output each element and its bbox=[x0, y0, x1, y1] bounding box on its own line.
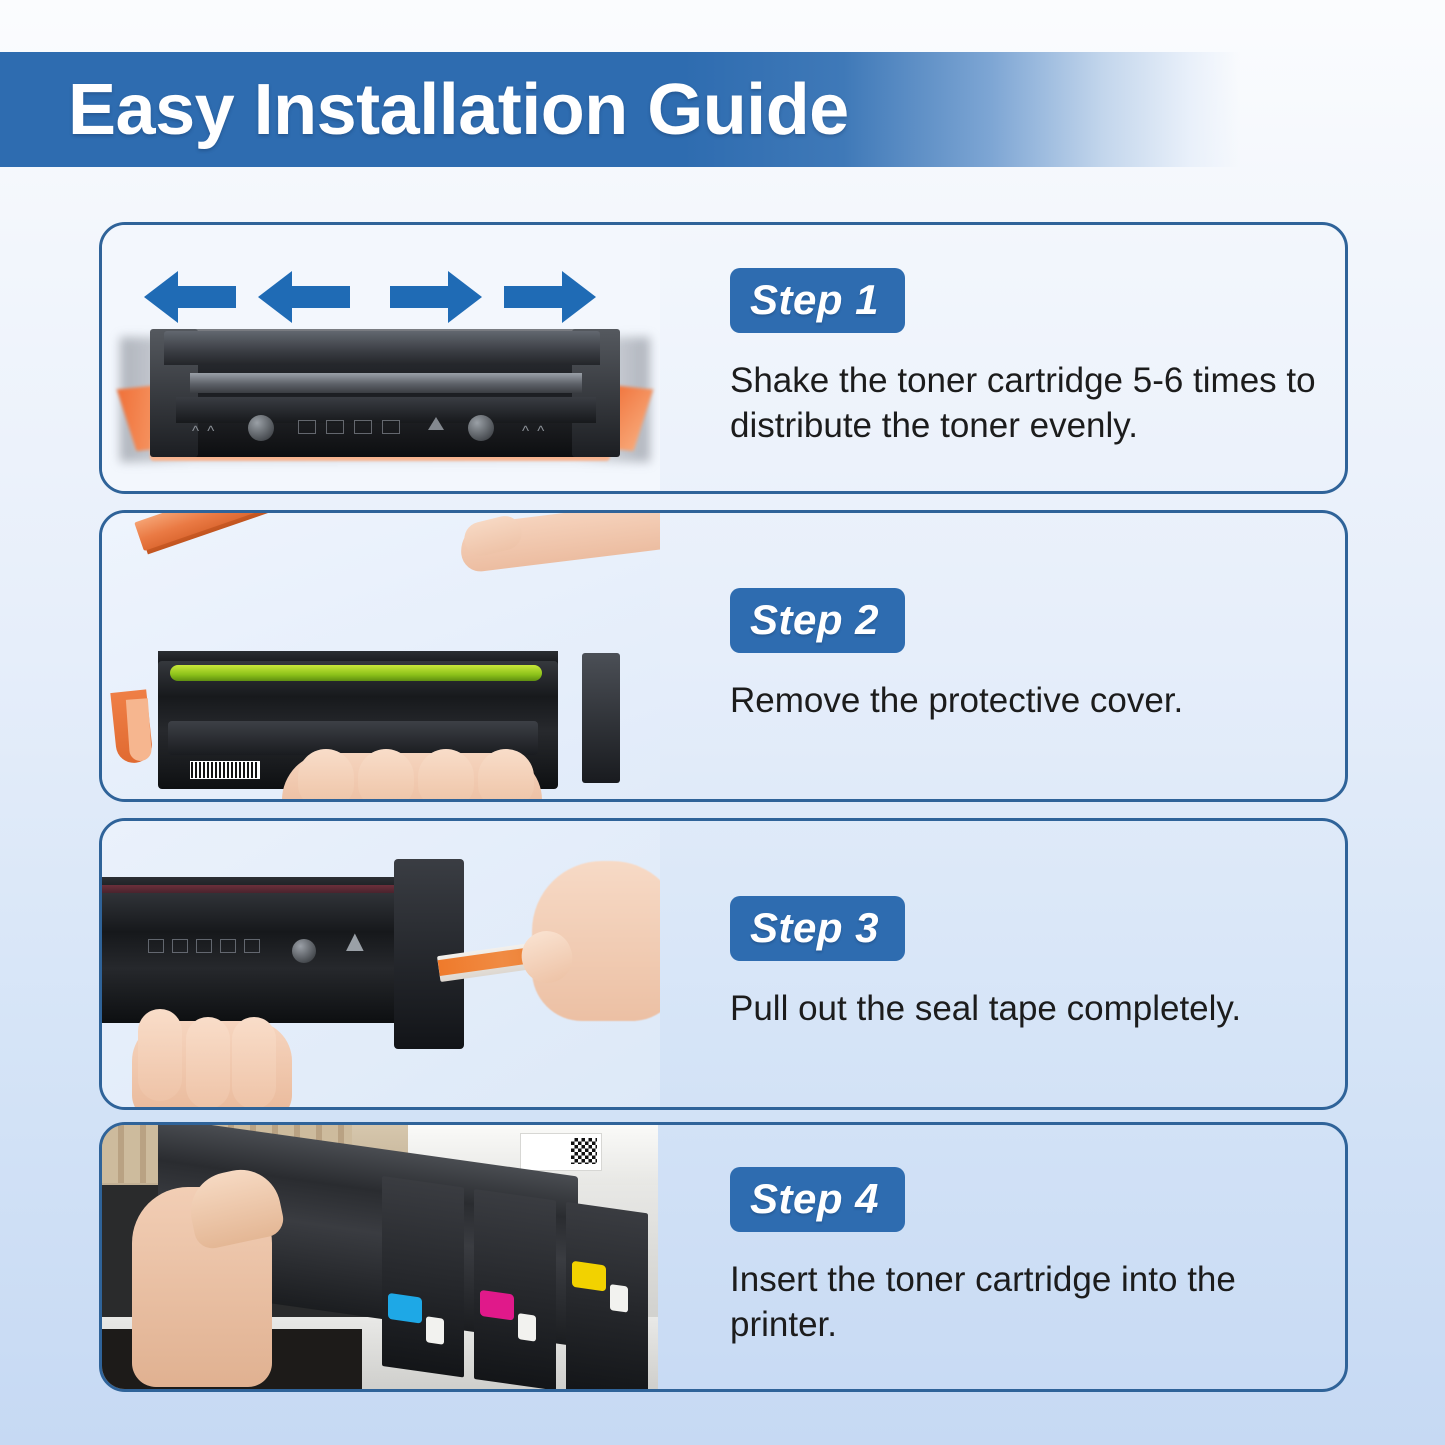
step-card-2: Step 2 Remove the protective cover. bbox=[99, 510, 1348, 802]
toner-cartridge-photo: ^ ^ ^ ^ bbox=[120, 317, 650, 477]
step-description-2: Remove the protective cover. bbox=[730, 679, 1330, 724]
step-badge-4: Step 4 bbox=[730, 1167, 905, 1232]
step-badge-2: Step 2 bbox=[730, 588, 905, 653]
printer-label bbox=[520, 1133, 602, 1171]
magenta-cartridge-clip bbox=[480, 1290, 514, 1321]
step-1-image: ^ ^ ^ ^ bbox=[102, 225, 660, 491]
step-2-image bbox=[102, 513, 660, 799]
step-card-1: ^ ^ ^ ^ Step 1 Shake the toner cartridge… bbox=[99, 222, 1348, 494]
step-description-3: Pull out the seal tape completely. bbox=[730, 987, 1330, 1032]
yellow-cartridge-clip bbox=[572, 1261, 606, 1292]
step-badge-1: Step 1 bbox=[730, 268, 905, 333]
step-card-4: Step 4 Insert the toner cartridge into t… bbox=[99, 1122, 1348, 1392]
step-badge-3: Step 3 bbox=[730, 896, 905, 961]
step-3-image: ▲ bbox=[102, 821, 660, 1107]
step-description-1: Shake the toner cartridge 5-6 times to d… bbox=[730, 359, 1330, 449]
step-card-3: ▲ Step 3 Pull out the seal tape complete… bbox=[99, 818, 1348, 1110]
step-4-image bbox=[102, 1125, 658, 1389]
cyan-cartridge-clip bbox=[388, 1293, 422, 1324]
step-description-4: Insert the toner cartridge into the prin… bbox=[730, 1258, 1330, 1348]
page-title: Easy Installation Guide bbox=[68, 60, 849, 160]
